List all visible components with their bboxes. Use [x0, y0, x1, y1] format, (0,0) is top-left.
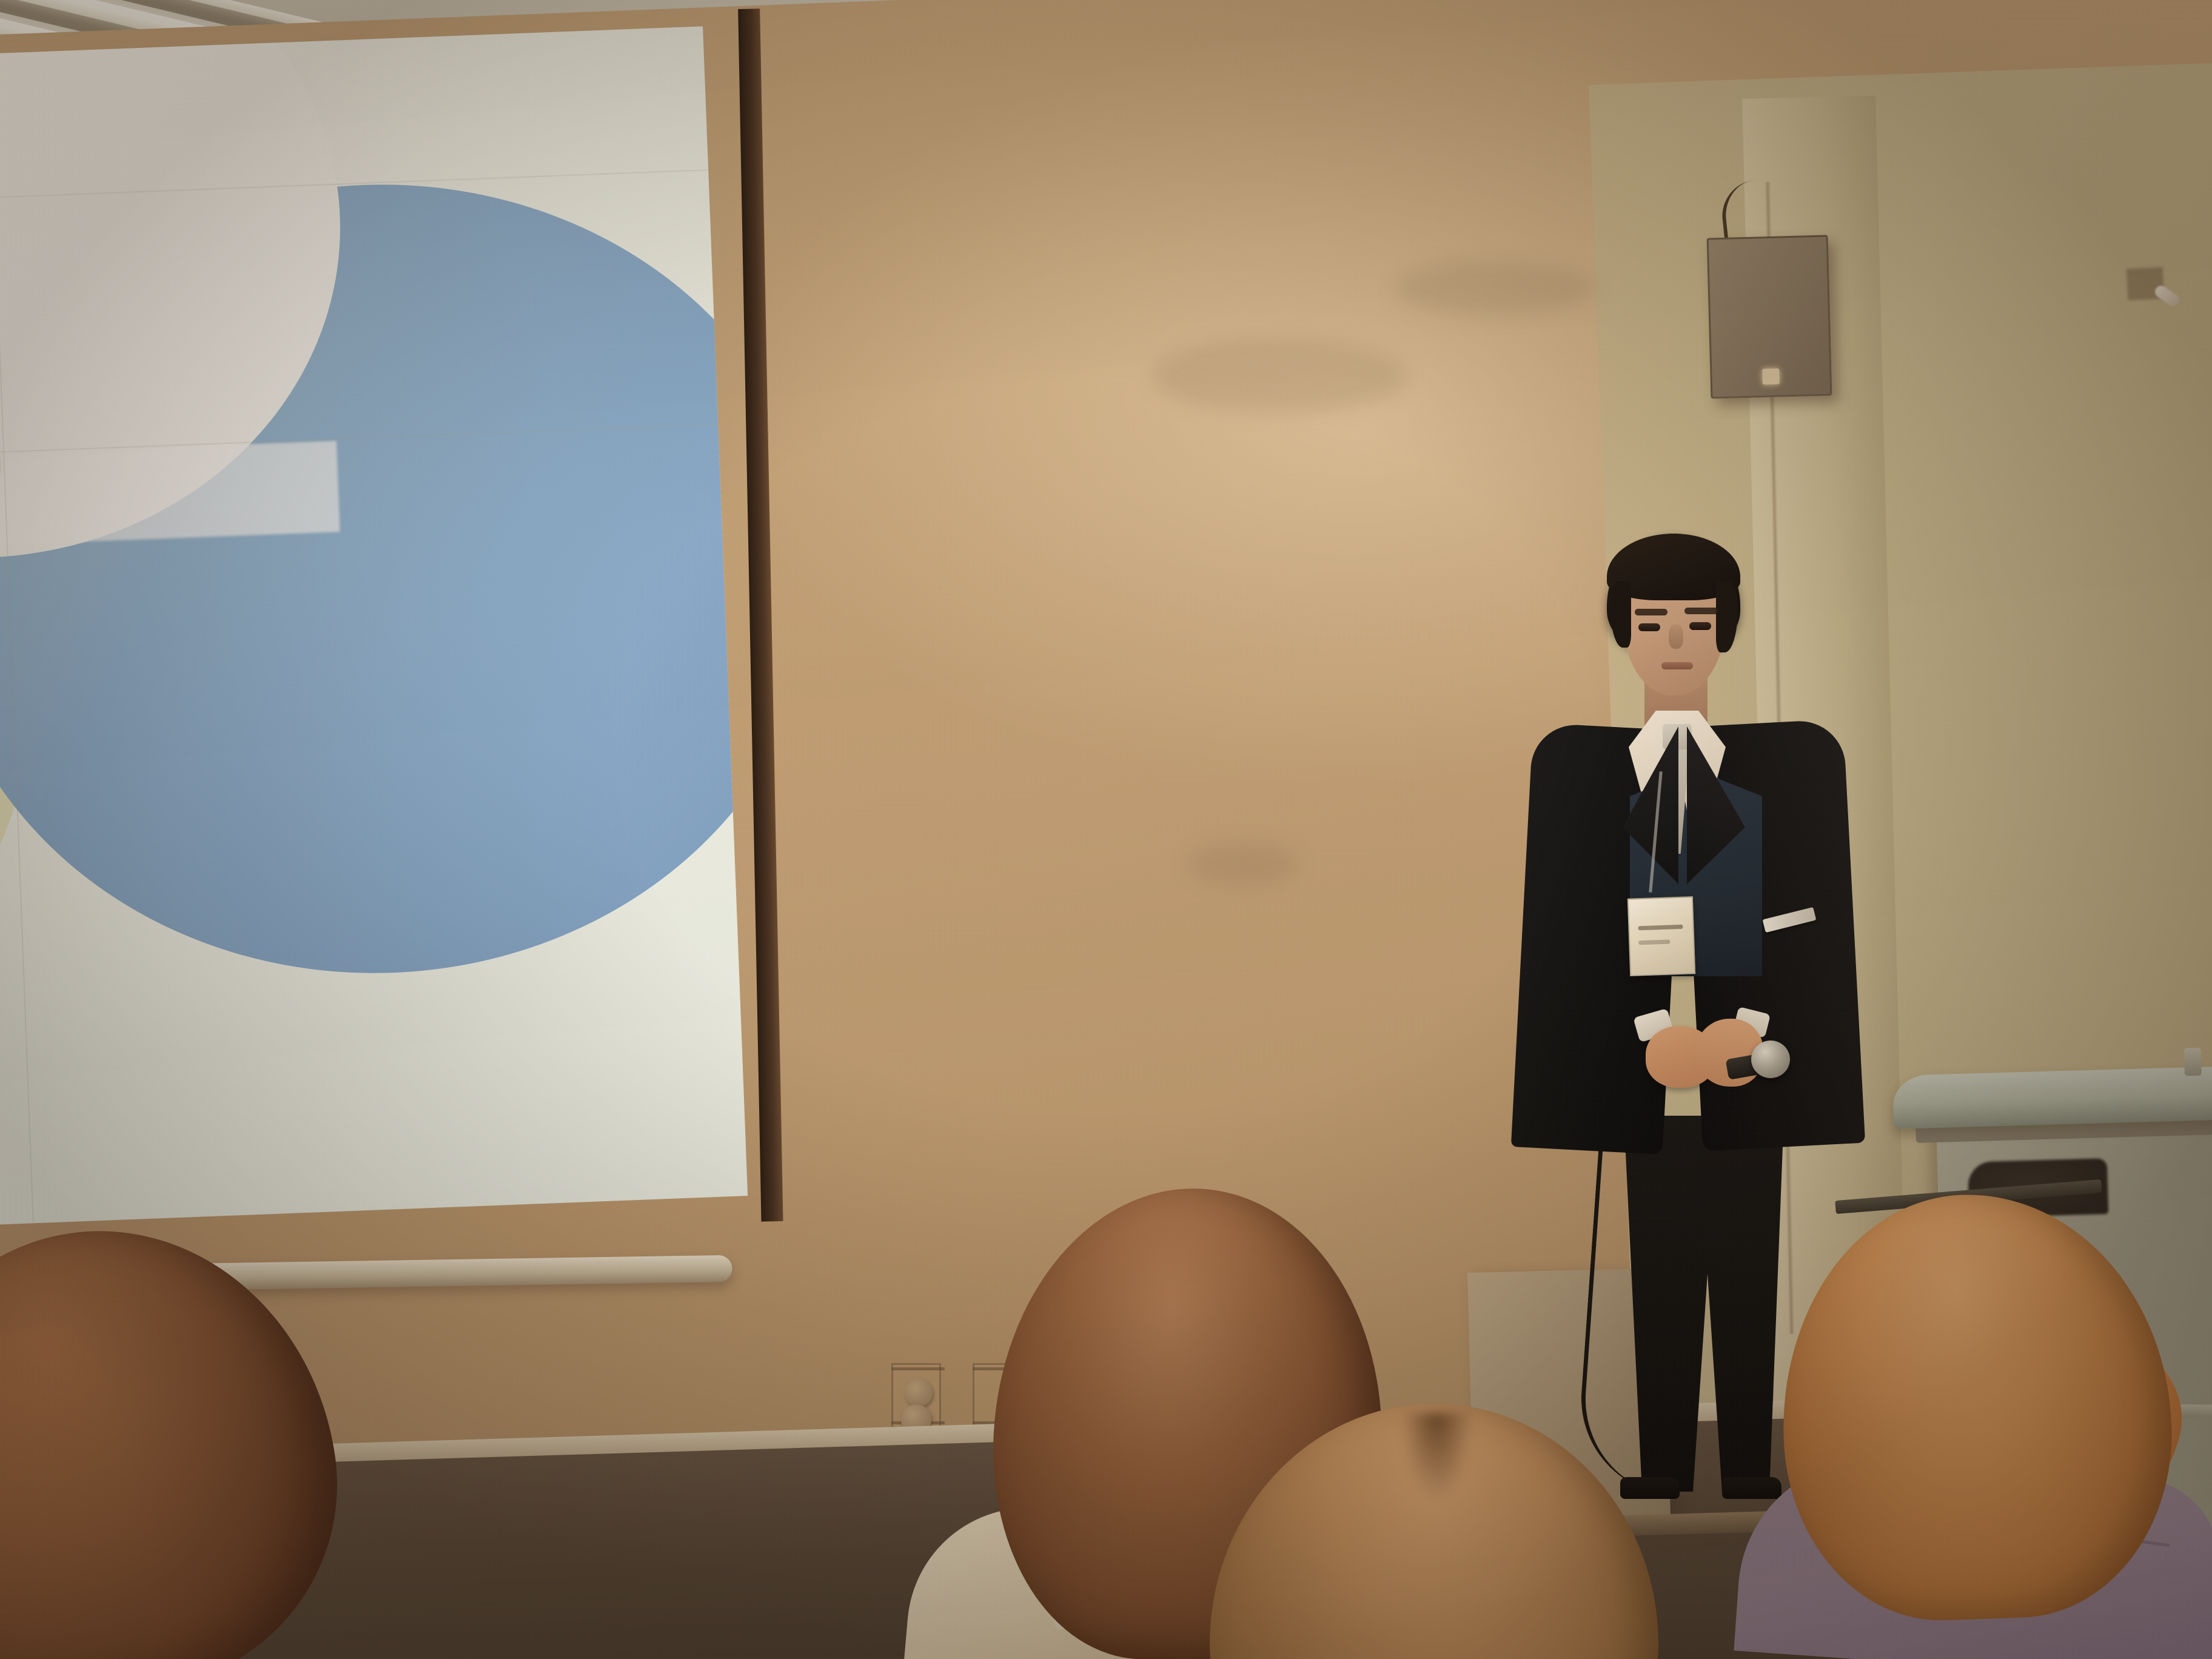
projection-screen: [0, 25, 779, 1264]
lectern-top-surface: [1892, 1066, 2212, 1129]
photograph-scene: [0, 0, 2212, 1659]
presenter-shoe: [1722, 1477, 1781, 1499]
wall-mark: [1152, 340, 1407, 412]
presenter-nose: [1669, 625, 1683, 649]
wall-speaker: [1707, 235, 1832, 398]
presenter-eyebrow: [1635, 609, 1667, 615]
presenter-eyebrow: [1684, 608, 1718, 614]
name-badge: [1627, 896, 1695, 976]
wall-mark: [1395, 261, 1595, 315]
speaker-indicator-icon: [1762, 369, 1780, 385]
presenter-mouth: [1661, 662, 1693, 669]
presenter-shoe: [1620, 1477, 1680, 1499]
presenter-eye: [1638, 623, 1660, 631]
presentation-slide: [0, 26, 748, 1227]
wall-mark: [1188, 843, 1298, 885]
lectern-knob[interactable]: [2184, 1048, 2202, 1076]
cable-plug: [905, 1379, 933, 1407]
presenter-hair-side: [1716, 581, 1738, 652]
presenter-eye: [1689, 622, 1711, 630]
microphone-head-icon[interactable]: [1751, 1041, 1790, 1078]
slide-white-band: [0, 441, 340, 550]
presenter-hair-side: [1610, 581, 1631, 648]
projection-screen-surface: [0, 26, 748, 1227]
audience-hair-part: [1401, 1413, 1473, 1504]
